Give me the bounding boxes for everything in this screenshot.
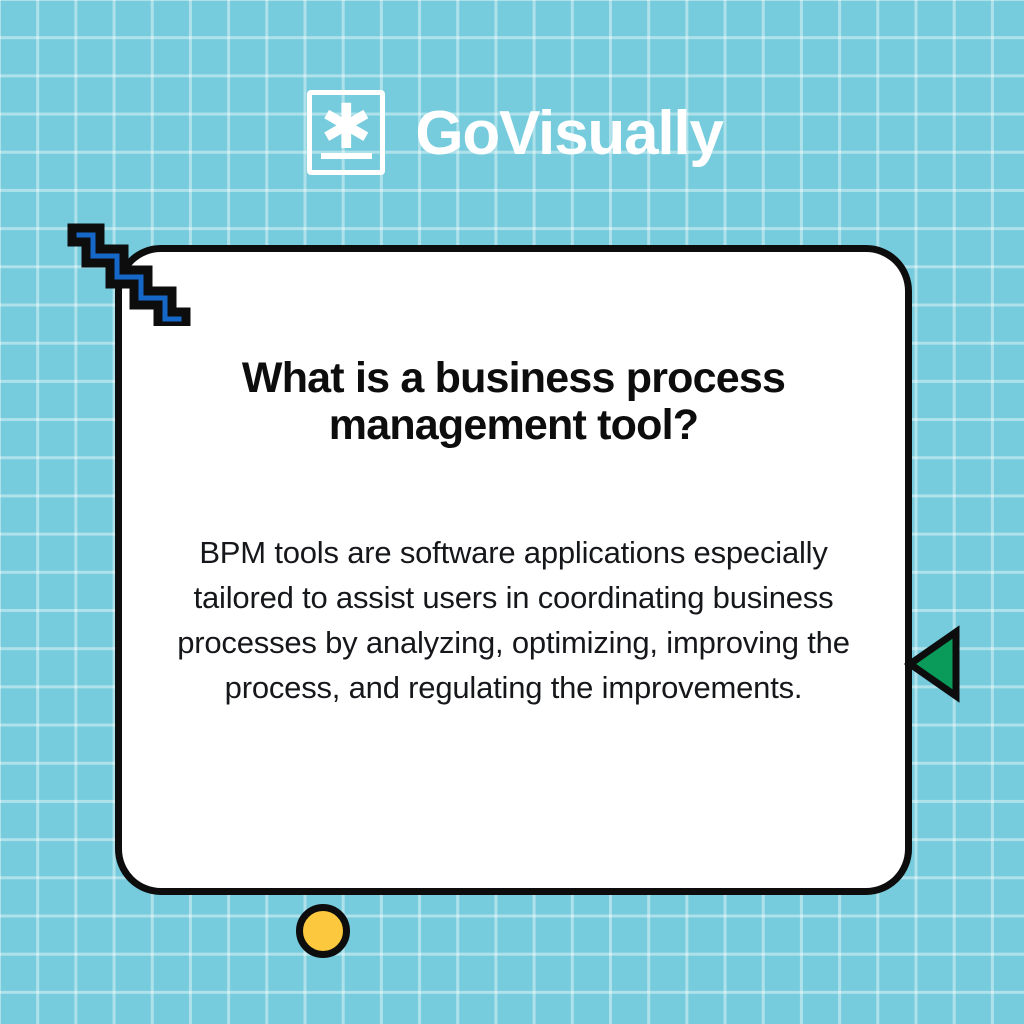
- brand-wordmark: GoVisually: [415, 103, 722, 165]
- yellow-dot-icon: [296, 904, 350, 958]
- blue-zigzag-staircase-icon: [62, 216, 194, 326]
- logo-asterisk-glyph: ✱: [319, 101, 373, 153]
- brand-header: ✱ GoVisually: [0, 82, 1024, 186]
- card-body-text: BPM tools are software applications espe…: [154, 530, 874, 710]
- govisually-asterisk-logo-icon: ✱: [301, 87, 393, 181]
- card-heading: What is a business process management to…: [164, 355, 864, 449]
- slide-canvas: ✱ GoVisually What is a business process …: [0, 0, 1024, 1024]
- logo-underline: [321, 153, 372, 159]
- green-left-triangle-icon: [900, 622, 970, 706]
- card-content: What is a business process management to…: [122, 252, 905, 888]
- question-card: What is a business process management to…: [115, 245, 912, 895]
